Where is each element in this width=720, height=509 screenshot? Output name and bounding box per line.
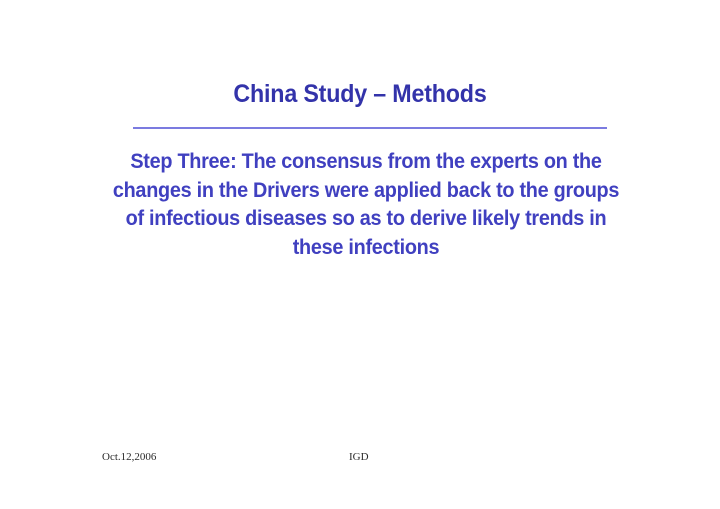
body-line: Step Three: The consensus from the exper…: [111, 148, 621, 177]
title-divider: [133, 127, 607, 129]
page-title: China Study – Methods: [25, 80, 695, 108]
slide-footer: Oct.12,2006 IGD: [0, 448, 720, 466]
footer-date: Oct.12,2006: [102, 448, 156, 466]
body-line: these infections: [111, 234, 621, 263]
footer-organization: IGD: [349, 448, 369, 466]
body-line: of infectious diseases so as to derive l…: [111, 205, 621, 234]
body-line: changes in the Drivers were applied back…: [111, 177, 621, 206]
slide-canvas: China Study – Methods Step Three: The co…: [0, 0, 720, 509]
slide-body: Step Three: The consensus from the exper…: [96, 148, 636, 262]
